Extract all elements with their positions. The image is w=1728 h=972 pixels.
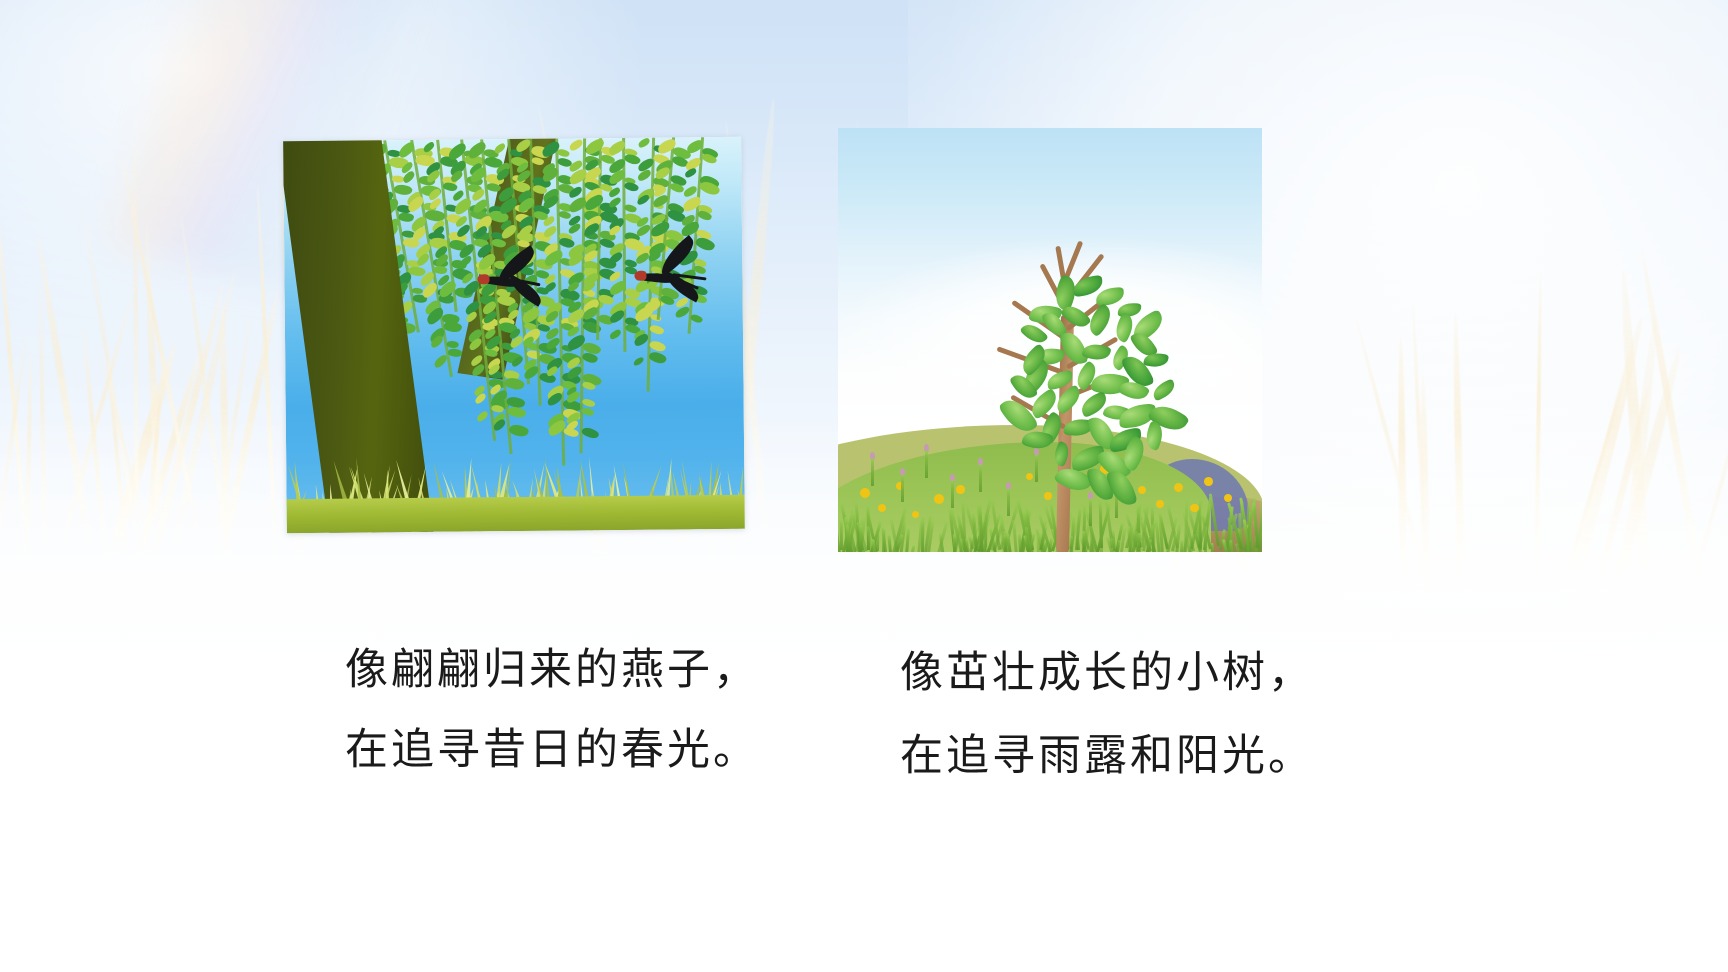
wheat-stalk <box>1566 316 1648 602</box>
willow-tree-with-swallows-illustration <box>283 137 745 533</box>
meadow-grass-blade <box>1012 520 1018 552</box>
grass-base <box>287 495 745 533</box>
wildflower-yellow <box>878 504 886 512</box>
wildflower-yellow <box>1224 494 1232 502</box>
wheat-stalk <box>1558 378 1626 600</box>
wheat-stalk <box>150 281 227 561</box>
caption-right-line-1: 像茁壮成长的小树， <box>900 652 1314 695</box>
wildflower-yellow <box>1044 492 1052 500</box>
wildflower-yellow <box>1138 486 1146 494</box>
wildflower-stem <box>1035 454 1038 482</box>
wheat-stalk <box>38 282 47 560</box>
wildflower-stem <box>1007 488 1010 516</box>
wildflower-stem <box>925 450 928 478</box>
wheat-stalk <box>179 216 231 560</box>
wheat-stalk <box>1638 248 1707 601</box>
wheat-stalk <box>1687 416 1728 601</box>
wildflower-yellow <box>912 511 919 518</box>
meadow-grass-blade <box>905 528 910 552</box>
caption-left-line-2: 在追寻昔日的春光。 <box>345 729 759 772</box>
wheat-stalk <box>1618 320 1660 601</box>
willow-strand <box>613 138 636 352</box>
wildflower-yellow <box>934 494 944 504</box>
wildflower-stem <box>901 474 904 502</box>
caption-left-line-1: 像翩翩归来的燕子， <box>345 649 759 692</box>
meadow-grass-blade <box>1036 535 1039 552</box>
meadow-grass-blade <box>1137 533 1141 551</box>
wildflower-yellow <box>956 485 965 494</box>
wheat-stalk <box>1452 313 1465 601</box>
wheat-stalk <box>218 288 282 561</box>
meadow-grass-blade <box>859 525 863 551</box>
wheat-stalk <box>1354 315 1434 600</box>
wheat-stalk <box>1411 298 1429 600</box>
caption-right-line-2: 在追寻雨露和阳光。 <box>900 735 1314 778</box>
wheat-stalk <box>212 304 254 560</box>
wheat-stalk <box>81 325 108 561</box>
wheat-stalk <box>1534 272 1543 601</box>
wheat-stalk <box>105 342 180 562</box>
wheat-stalk <box>118 148 205 561</box>
wheat-stalk <box>1591 378 1654 601</box>
willow-leaf <box>581 406 595 417</box>
meadow-grass-blade <box>910 545 915 552</box>
wildflower-stem <box>951 480 954 508</box>
wheat-stalk <box>1397 336 1407 600</box>
wheat-stalk <box>219 303 230 560</box>
wildflower-stem <box>871 458 874 486</box>
wheat-stalk <box>0 332 29 560</box>
illustration-foreground-grass <box>286 443 745 533</box>
swallow-head <box>477 274 489 284</box>
wildflower-yellow <box>1204 477 1213 486</box>
wheat-stalk <box>56 294 134 560</box>
wheat-stalk <box>81 209 143 560</box>
wheat-stalk <box>1618 270 1653 601</box>
wildflower-yellow <box>860 488 870 498</box>
wheat-stalk <box>1607 346 1685 601</box>
wildflower-yellow <box>1156 500 1164 508</box>
meadow-grass-blade <box>839 519 842 549</box>
meadow-grass-blade <box>1209 493 1220 546</box>
wildflower-yellow <box>1026 473 1033 480</box>
slide-canvas: 像翩翩归来的燕子， 在追寻昔日的春光。 像茁壮成长的小树， 在追寻雨露和阳光。 <box>0 0 1728 972</box>
wildflower-stem <box>1089 498 1092 526</box>
meadow-grass-blade <box>888 535 893 552</box>
wheat-stalk <box>143 355 166 560</box>
wildflower-stem <box>979 464 982 492</box>
young-sapling-tree-on-hillside-illustration <box>838 128 1262 552</box>
wheat-stalk <box>106 360 129 561</box>
wheat-stalk <box>132 133 138 560</box>
swallow-head <box>634 271 646 281</box>
wheat-stalk <box>1419 374 1430 601</box>
willow-leaf <box>557 147 570 158</box>
willow-strand <box>587 138 612 340</box>
wheat-stalk <box>256 185 278 561</box>
wheat-stalk <box>25 350 33 560</box>
wildflower-yellow <box>1190 504 1199 513</box>
wheat-stalk <box>34 233 95 561</box>
wheat-stalk <box>0 208 29 560</box>
wheat-stalk <box>143 224 164 560</box>
wheat-stalk <box>135 348 205 561</box>
wheat-stalk <box>168 269 238 561</box>
wildflower-yellow <box>1174 483 1183 492</box>
wheat-stalk <box>97 347 155 560</box>
